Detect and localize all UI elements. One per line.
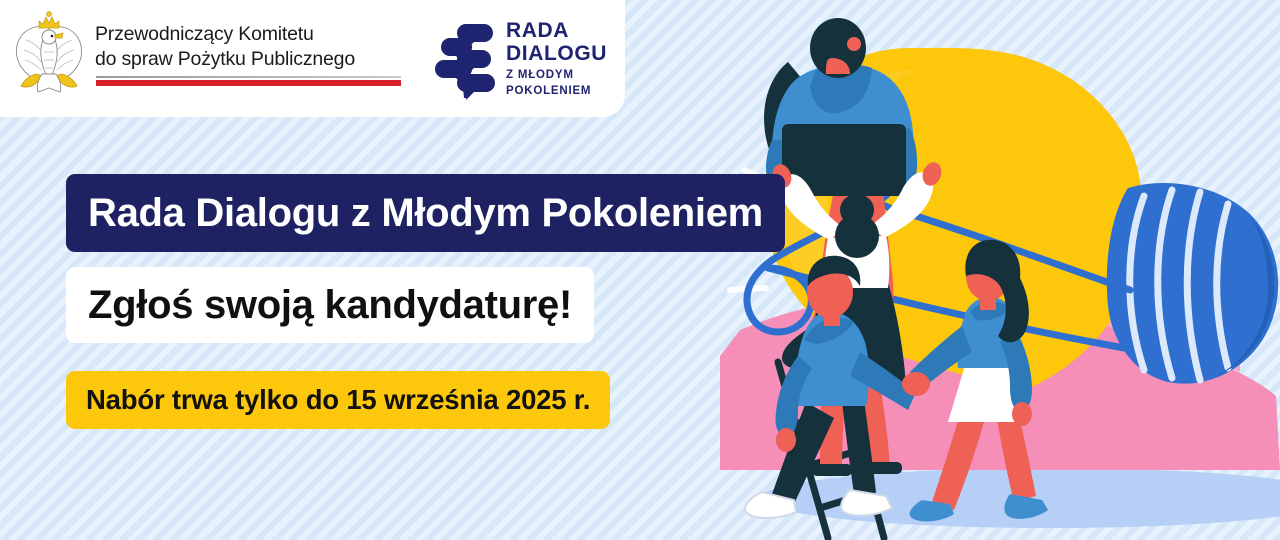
rada-dialogu-wordmark: RADA DIALOGU Z MŁODYM POKOLENIEM	[506, 20, 616, 99]
polish-eagle-emblem	[8, 8, 90, 100]
deadline-bar: Nabór trwa tylko do 15 września 2025 r.	[66, 371, 610, 429]
flag-rule-red	[96, 80, 401, 86]
ministry-line-1: Przewodniczący Komitetu	[95, 22, 405, 47]
logo-line-pokoleniem: POKOLENIEM	[506, 83, 616, 99]
rada-dialogu-logo: RADA DIALOGU Z MŁODYM POKOLENIEM	[428, 16, 613, 102]
logo-line-z-mlodym: Z MŁODYM	[506, 67, 616, 83]
logo-line-rada: RADA	[506, 20, 616, 42]
speech-bubble-plant-icon	[428, 18, 500, 100]
call-to-action-bar: Zgłoś swoją kandydaturę!	[66, 267, 594, 343]
header-card: Przewodniczący Komitetu do spraw Pożytku…	[0, 0, 625, 117]
ministry-title: Przewodniczący Komitetu do spraw Pożytku…	[95, 22, 405, 72]
lightbulb-teamwork-illustration	[720, 0, 1280, 540]
flag-rule-grey	[96, 76, 401, 78]
logo-line-dialogu: DIALOGU	[506, 42, 616, 65]
headline-title-bar: Rada Dialogu z Młodym Pokoleniem	[66, 174, 785, 252]
ministry-line-2: do spraw Pożytku Publicznego	[95, 47, 405, 72]
campaign-banner: Przewodniczący Komitetu do spraw Pożytku…	[0, 0, 1280, 540]
bulb-screw-base	[1107, 183, 1278, 384]
